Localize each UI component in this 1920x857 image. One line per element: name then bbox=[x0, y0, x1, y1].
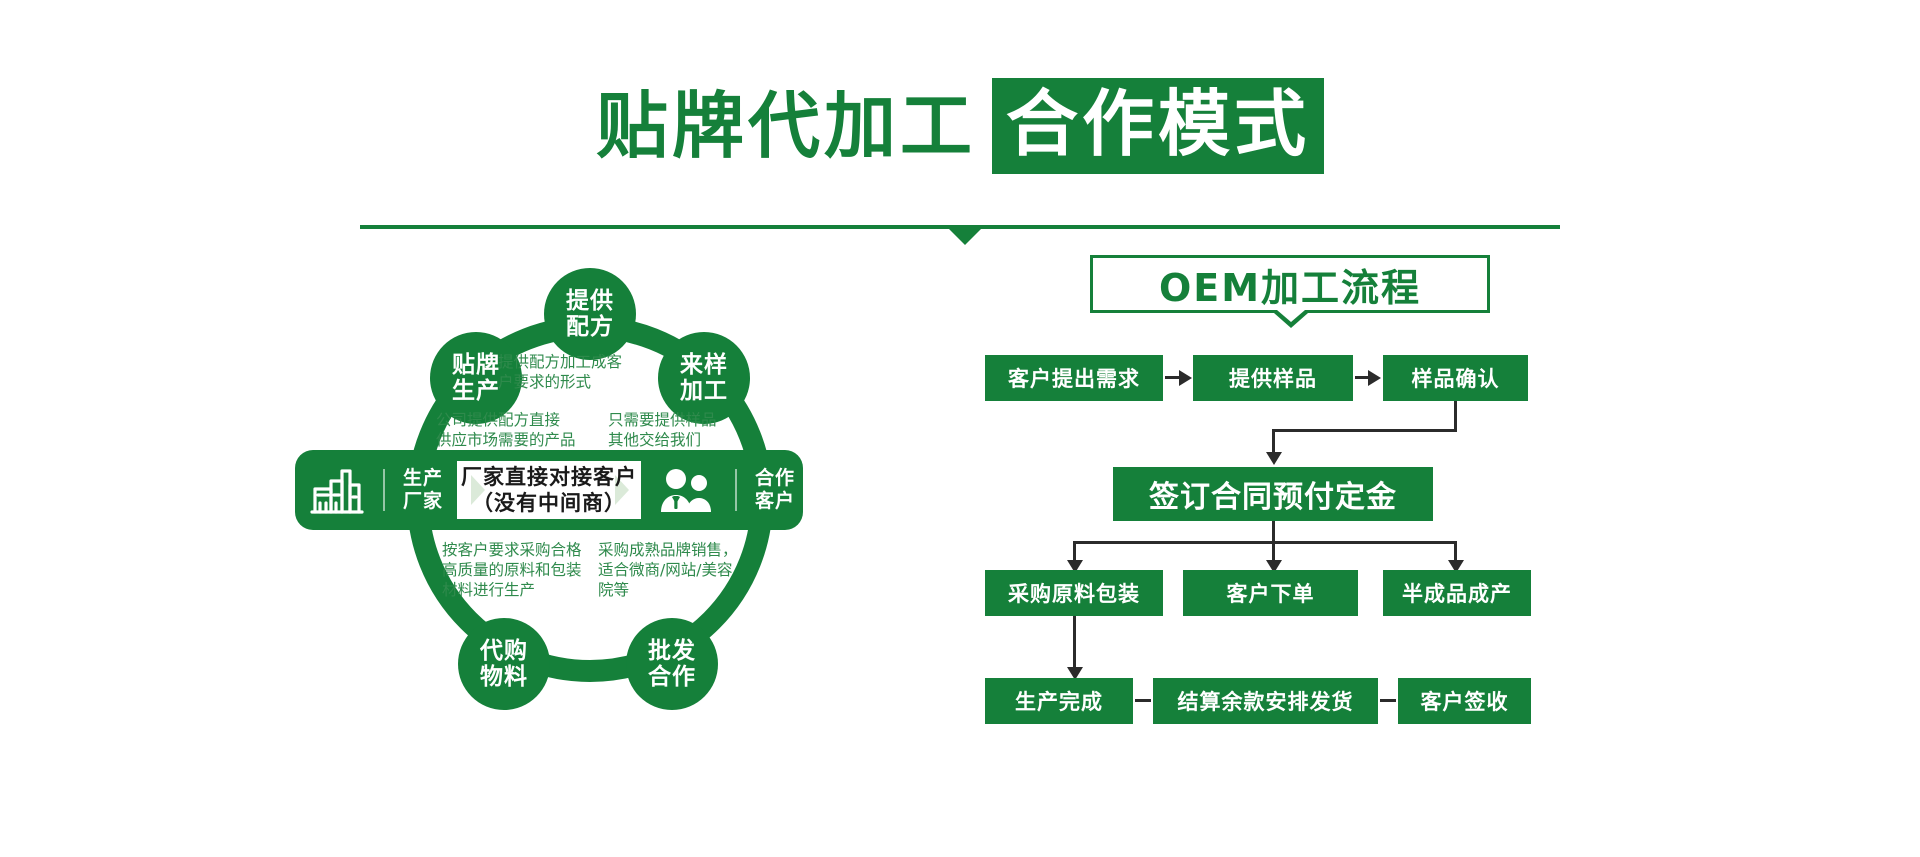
direct-connection-callout: 厂家直接对接客户 （没有中间商） bbox=[457, 461, 641, 519]
title-boxed-text: 合作模式 bbox=[992, 78, 1324, 174]
flow-step-sample-confirm[interactable]: 样品确认 bbox=[1383, 355, 1528, 401]
title-plain-text: 贴牌代加工 bbox=[596, 90, 976, 162]
cycle-caption-oem: 公司提供配方直接 供应市场需要的产品 bbox=[436, 410, 596, 450]
cycle-node-formula-line2: 配方 bbox=[566, 314, 614, 340]
flow-step-production-complete[interactable]: 生产完成 bbox=[985, 678, 1133, 724]
cycle-node-sample-line2: 加工 bbox=[680, 378, 728, 404]
arrow-r3-down-line bbox=[1073, 616, 1076, 669]
cooperation-cycle-diagram: 提供 配方 贴牌 生产 来样 加工 代购 物料 批发 合作 提供配方加工成客 户… bbox=[350, 270, 830, 770]
cycle-caption-formula: 提供配方加工成客 户要求的形式 bbox=[498, 352, 668, 392]
flow-step-balance-shipment[interactable]: 结算余款安排发货 bbox=[1153, 678, 1378, 724]
oem-flow-heading: OEM加工流程 bbox=[1090, 255, 1490, 313]
arrow-branch-stem bbox=[1272, 521, 1275, 543]
direct-connection-bar: 生产 厂家 厂家直接对接客户 （没有中间商） bbox=[295, 450, 803, 530]
flow-step-customer-order[interactable]: 客户下单 bbox=[1183, 570, 1358, 616]
flow-step-customer-receipt[interactable]: 客户签收 bbox=[1398, 678, 1531, 724]
divider-caret-icon bbox=[949, 229, 981, 245]
client-label-line1: 合作 bbox=[747, 467, 803, 490]
direct-connection-text: 厂家直接对接客户 （没有中间商） bbox=[461, 464, 637, 516]
client-label: 合作 客户 bbox=[747, 467, 803, 513]
cycle-node-material-line2: 物料 bbox=[480, 664, 528, 690]
arrow-r1-1-head bbox=[1179, 370, 1192, 386]
cycle-node-wholesale[interactable]: 批发 合作 bbox=[626, 618, 718, 710]
arrow-r4-1-line bbox=[1135, 699, 1151, 702]
page-title: 贴牌代加工合作模式 bbox=[0, 78, 1920, 174]
factory-icon bbox=[301, 465, 373, 515]
flow-step-provide-sample[interactable]: 提供样品 bbox=[1193, 355, 1353, 401]
producer-label-line2: 厂家 bbox=[395, 490, 451, 513]
arrow-r1-2-line bbox=[1355, 376, 1369, 379]
producer-label-line1: 生产 bbox=[395, 467, 451, 490]
oem-process-flowchart: OEM加工流程 客户提出需求 提供样品 样品确认 签订合同预付定金 采购原料包装… bbox=[985, 255, 1605, 675]
cycle-node-formula[interactable]: 提供 配方 bbox=[544, 268, 636, 360]
cycle-node-formula-line1: 提供 bbox=[566, 288, 614, 314]
flow-step-semi-finished[interactable]: 半成品成产 bbox=[1383, 570, 1531, 616]
direct-connection-line1: 厂家直接对接客户 bbox=[461, 464, 637, 490]
arrow-r1-2-head bbox=[1368, 370, 1381, 386]
cycle-node-oem-line2: 生产 bbox=[452, 378, 500, 404]
cycle-caption-wholesale: 采购成熟品牌销售， 适合微商/网站/美容 院等 bbox=[598, 540, 753, 600]
cycle-node-sample-line1: 来样 bbox=[680, 352, 728, 378]
cycle-caption-material: 按客户要求采购合格 高质量的原料和包装 材料进行生产 bbox=[442, 540, 607, 600]
bar-separator-right bbox=[735, 469, 737, 511]
arrow-to-contract-line bbox=[1272, 429, 1275, 454]
arrow-to-contract-head bbox=[1266, 452, 1282, 465]
oem-heading-caret-inner bbox=[1277, 310, 1305, 322]
cycle-node-wholesale-line2: 合作 bbox=[648, 664, 696, 690]
arrow-r1-down-line bbox=[1454, 401, 1457, 431]
cycle-node-material[interactable]: 代购 物料 bbox=[458, 618, 550, 710]
arrow-r1-across-line bbox=[1272, 429, 1457, 432]
flow-step-customer-request[interactable]: 客户提出需求 bbox=[985, 355, 1163, 401]
cycle-node-wholesale-line1: 批发 bbox=[648, 638, 696, 664]
bar-separator-left bbox=[383, 469, 385, 511]
flow-step-sign-contract[interactable]: 签订合同预付定金 bbox=[1113, 467, 1433, 521]
direct-connection-line2: （没有中间商） bbox=[461, 490, 637, 516]
customers-icon bbox=[653, 466, 725, 514]
cycle-node-material-line1: 代购 bbox=[480, 638, 528, 664]
cycle-node-oem-line1: 贴牌 bbox=[452, 352, 500, 378]
arrow-r4-2-line bbox=[1380, 699, 1396, 702]
client-label-line2: 客户 bbox=[747, 490, 803, 513]
arrow-branch-bus bbox=[1073, 541, 1457, 544]
cycle-caption-sample: 只需要提供样品 其他交给我们 bbox=[608, 410, 758, 450]
flow-step-purchase-materials[interactable]: 采购原料包装 bbox=[985, 570, 1163, 616]
poster-canvas: 贴牌代加工合作模式 提供 配方 贴牌 生产 来样 加工 代购 物料 批发 合作 … bbox=[0, 0, 1920, 857]
producer-label: 生产 厂家 bbox=[395, 467, 451, 513]
